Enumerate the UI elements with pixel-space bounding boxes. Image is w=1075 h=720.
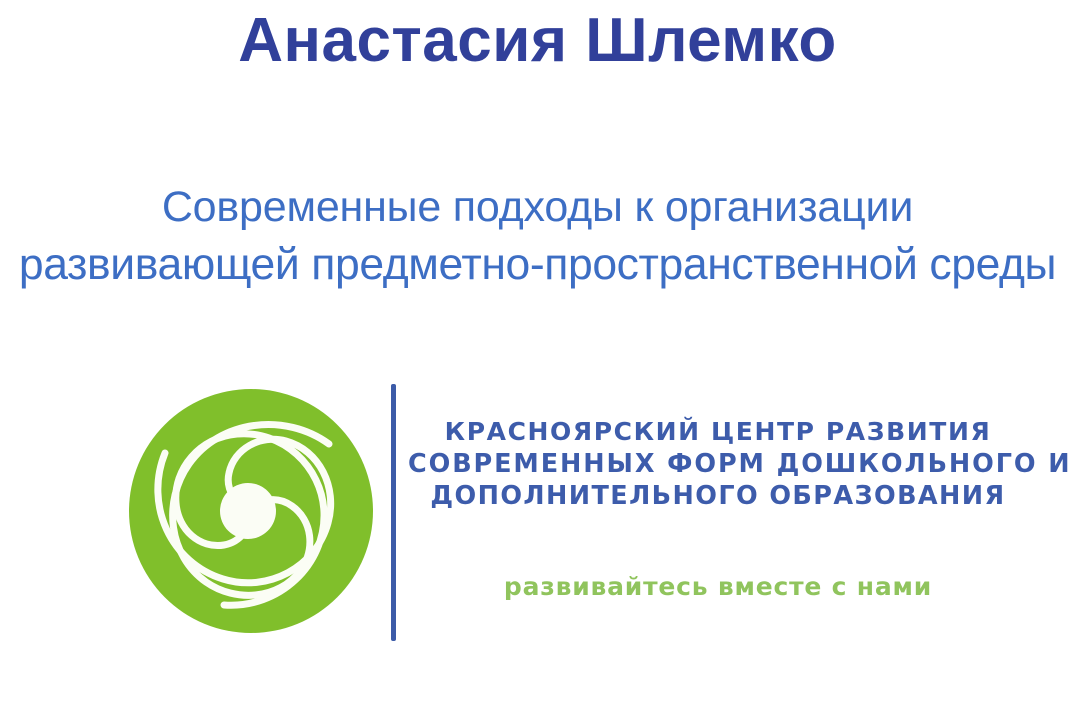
organization-tagline: развивайтесь вместе с нами bbox=[408, 572, 1028, 601]
organization-name-line-2: СОВРЕМЕННЫХ ФОРМ ДОШКОЛЬНОГО И bbox=[408, 448, 1028, 480]
green-spiral-swirl-logo-icon bbox=[126, 386, 376, 636]
slide-subtitle: Современные подходы к организации развив… bbox=[0, 178, 1075, 294]
subtitle-line-2: развивающей предметно-пространственной с… bbox=[0, 236, 1075, 294]
presentation-slide: Анастасия Шлемко Современные подходы к о… bbox=[0, 0, 1075, 720]
organization-logo-lockup: КРАСНОЯРСКИЙ ЦЕНТР РАЗВИТИЯ СОВРЕМЕННЫХ … bbox=[0, 378, 1075, 648]
logo-vertical-divider bbox=[391, 384, 396, 641]
presenter-name: Анастасия Шлемко bbox=[0, 4, 1075, 78]
organization-name-line-1: КРАСНОЯРСКИЙ ЦЕНТР РАЗВИТИЯ bbox=[408, 416, 1028, 448]
logo-text-block: КРАСНОЯРСКИЙ ЦЕНТР РАЗВИТИЯ СОВРЕМЕННЫХ … bbox=[408, 416, 1028, 601]
organization-name: КРАСНОЯРСКИЙ ЦЕНТР РАЗВИТИЯ СОВРЕМЕННЫХ … bbox=[408, 416, 1028, 512]
subtitle-line-1: Современные подходы к организации bbox=[0, 178, 1075, 236]
organization-name-line-3: ДОПОЛНИТЕЛЬНОГО ОБРАЗОВАНИЯ bbox=[408, 480, 1028, 512]
